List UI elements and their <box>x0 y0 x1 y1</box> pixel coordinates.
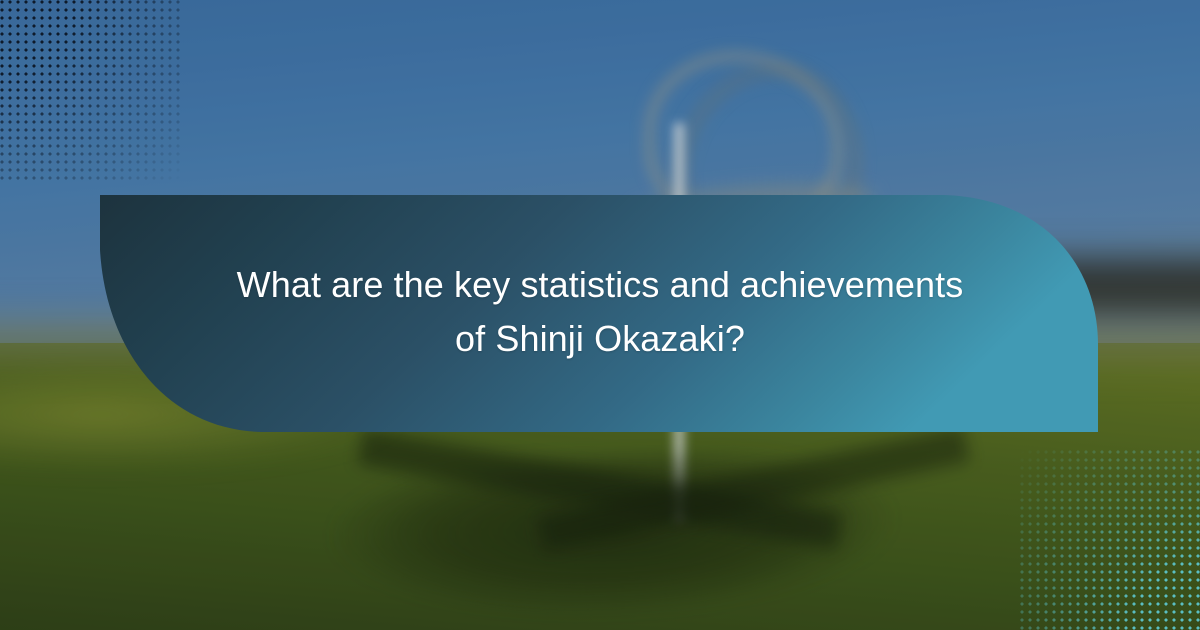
headline-text-block: What are the key statistics and achievem… <box>150 258 1050 366</box>
headline-banner: What are the key statistics and achievem… <box>0 0 1200 630</box>
share-card-canvas: What are the key statistics and achievem… <box>0 0 1200 630</box>
headline-line-2: of Shinji Okazaki? <box>150 312 1050 366</box>
headline-line-1: What are the key statistics and achievem… <box>150 258 1050 312</box>
